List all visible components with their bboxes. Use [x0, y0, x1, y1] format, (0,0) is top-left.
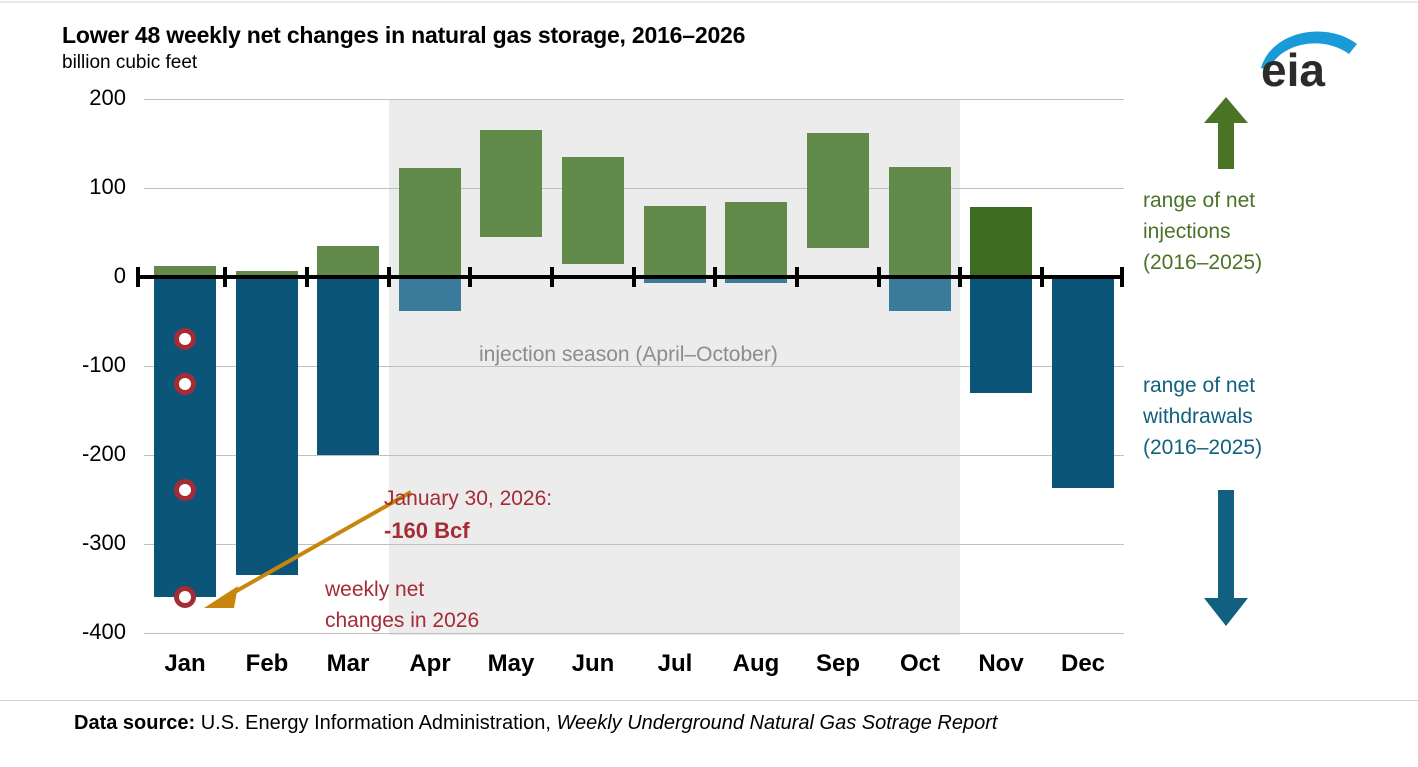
x-label-nov: Nov	[978, 650, 1023, 678]
x-tick-10	[958, 267, 962, 287]
annotation-series-line2: changes in 2026	[325, 609, 479, 633]
y-tick-neg100: -100	[46, 352, 126, 378]
bar-jun-injection	[562, 157, 624, 264]
x-tick-5	[550, 267, 554, 287]
y-tick-neg400: -400	[46, 619, 126, 645]
annotation-date: January 30, 2026:	[384, 487, 552, 511]
bar-mar-injection	[317, 246, 379, 277]
injection-season-band	[389, 99, 960, 635]
x-label-aug: Aug	[733, 650, 780, 678]
chart-page: Lower 48 weekly net changes in natural g…	[0, 0, 1418, 767]
data-source-agency: U.S. Energy Information Administration,	[195, 712, 556, 734]
x-label-may: May	[488, 650, 535, 678]
bar-oct-injection	[889, 167, 951, 277]
x-tick-6	[632, 267, 636, 287]
x-tick-12	[1120, 267, 1124, 287]
x-tick-1	[223, 267, 227, 287]
x-tick-0	[136, 267, 140, 287]
up-arrow-icon	[1198, 97, 1254, 169]
eia-logo-icon: eia	[1253, 18, 1368, 90]
legend-injections-line2: injections	[1143, 219, 1231, 245]
bar-may-injection	[480, 130, 542, 237]
gridline-100	[144, 188, 1124, 189]
x-tick-7	[713, 267, 717, 287]
footer-divider	[0, 700, 1418, 701]
bar-apr-withdrawal	[399, 277, 461, 311]
marker-2026-week1	[174, 328, 196, 350]
legend-injections-line1: range of net	[1143, 188, 1255, 214]
x-label-jul: Jul	[658, 650, 693, 678]
bar-oct-withdrawal	[889, 277, 951, 311]
y-tick-100: 100	[46, 174, 126, 200]
x-label-jun: Jun	[572, 650, 615, 678]
top-divider	[0, 1, 1418, 3]
bar-jul-injection	[644, 206, 706, 277]
page-title: Lower 48 weekly net changes in natural g…	[62, 22, 745, 49]
x-tick-9	[877, 267, 881, 287]
legend-withdrawals-line3: (2016–2025)	[1143, 435, 1262, 461]
chart-subtitle: billion cubic feet	[62, 52, 197, 74]
x-label-mar: Mar	[327, 650, 370, 678]
zero-axis-line	[136, 275, 1124, 279]
gridline-200	[144, 99, 1124, 100]
legend-withdrawals-line1: range of net	[1143, 373, 1255, 399]
marker-2026-week2	[174, 373, 196, 395]
legend-injections-line3: (2016–2025)	[1143, 250, 1262, 276]
x-tick-11	[1040, 267, 1044, 287]
x-label-oct: Oct	[900, 650, 940, 678]
x-label-sep: Sep	[816, 650, 860, 678]
x-label-feb: Feb	[246, 650, 289, 678]
x-label-dec: Dec	[1061, 650, 1105, 678]
data-source-note: Data source: U.S. Energy Information Adm…	[74, 712, 997, 735]
annotation-series-line1: weekly net	[325, 578, 424, 602]
bar-nov-injection	[970, 207, 1032, 277]
bar-sep-injection	[807, 133, 869, 248]
annotation-value: -160 Bcf	[384, 518, 470, 544]
y-tick-neg200: -200	[46, 441, 126, 467]
gridline-neg400	[144, 633, 1124, 634]
x-tick-8	[795, 267, 799, 287]
data-source-report: Weekly Underground Natural Gas Sotrage R…	[556, 712, 997, 734]
bar-dec-withdrawal	[1052, 277, 1114, 488]
x-tick-3	[387, 267, 391, 287]
y-tick-neg300: -300	[46, 530, 126, 556]
x-label-apr: Apr	[409, 650, 450, 678]
x-axis-labels: Jan Feb Mar Apr May Jun Jul Aug Sep Oct …	[144, 650, 1124, 690]
x-tick-4	[468, 267, 472, 287]
data-source-label: Data source:	[74, 712, 195, 734]
bar-aug-injection	[725, 202, 787, 277]
y-tick-0: 0	[46, 263, 126, 289]
svg-text:eia: eia	[1261, 44, 1325, 90]
bar-mar-withdrawal	[317, 277, 379, 455]
down-arrow-icon	[1198, 490, 1254, 626]
injection-season-label: injection season (April–October)	[479, 343, 778, 367]
y-tick-200: 200	[46, 85, 126, 111]
bar-apr-injection	[399, 168, 461, 277]
bar-nov-withdrawal	[970, 277, 1032, 393]
x-label-jan: Jan	[164, 650, 205, 678]
legend-withdrawals-line2: withdrawals	[1143, 404, 1253, 430]
y-axis-labels: 200 100 0 -100 -200 -300 -400	[46, 99, 126, 635]
x-tick-2	[305, 267, 309, 287]
